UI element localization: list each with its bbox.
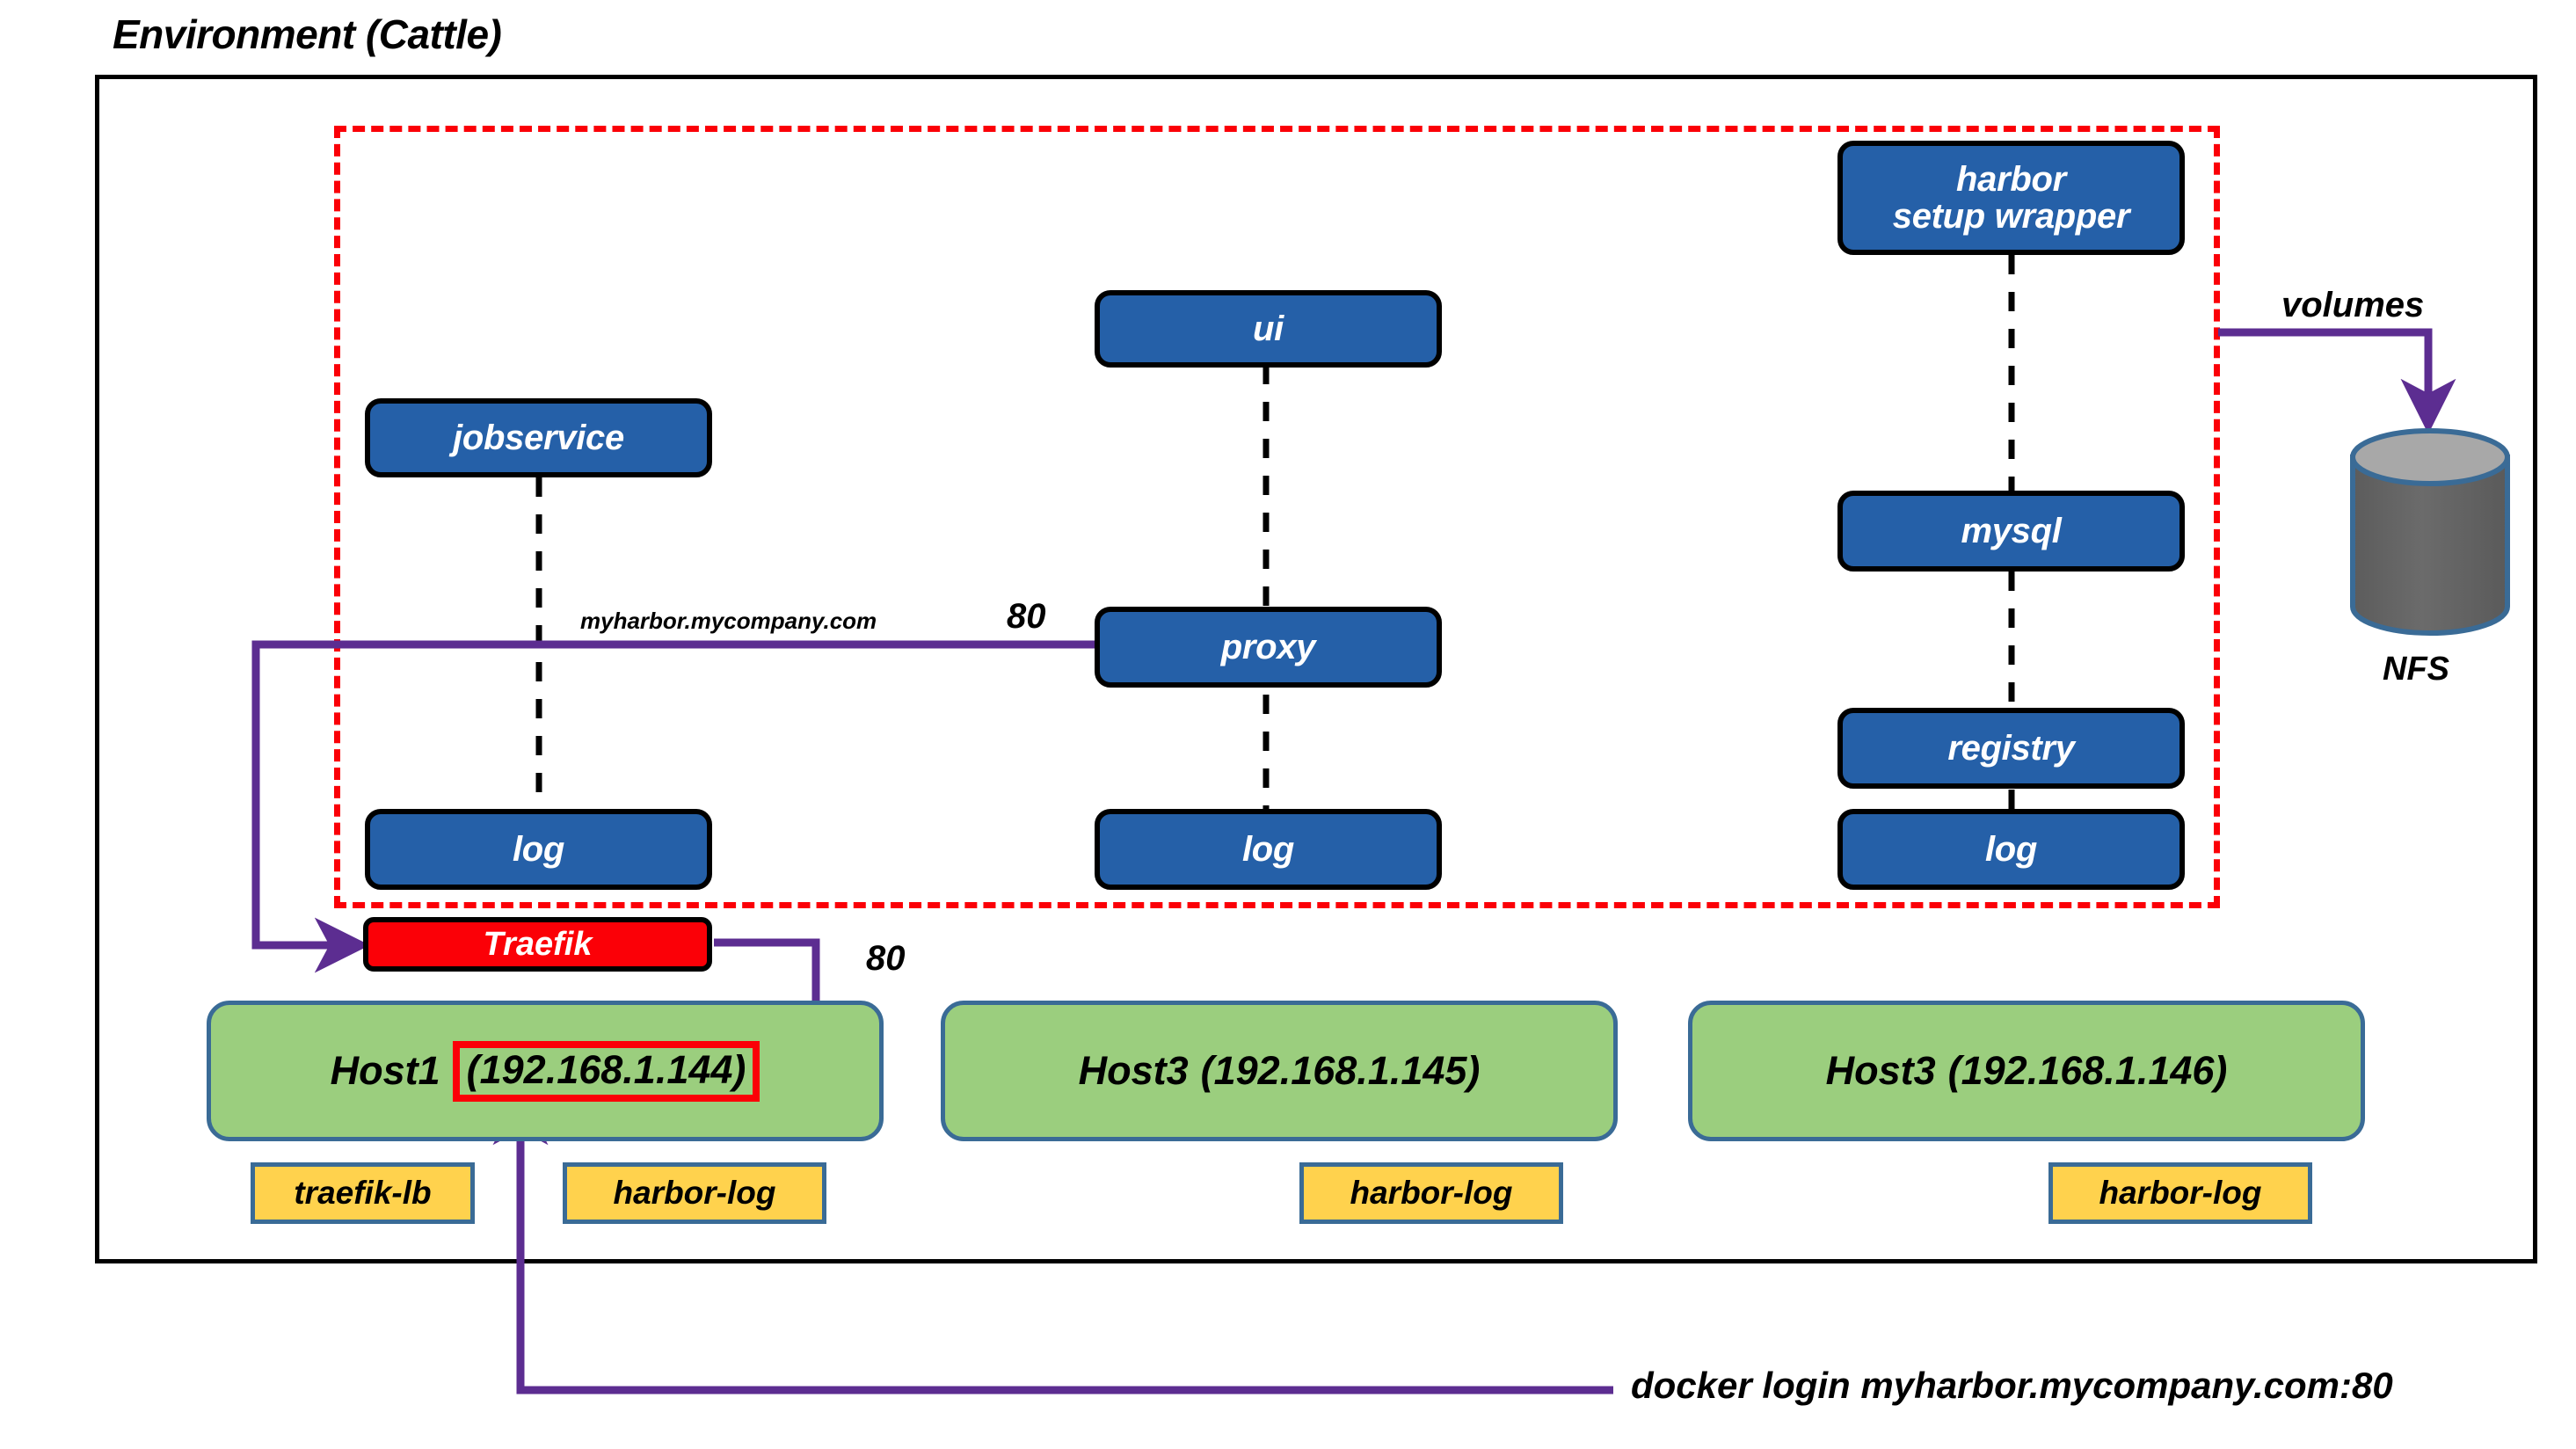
hostname-label: myharbor.mycompany.com: [580, 608, 877, 635]
service-box-jobservice[interactable]: jobservice: [365, 398, 712, 477]
host-ip-1: (192.168.1.144): [453, 1041, 760, 1102]
traefik-port-label: 80: [866, 939, 906, 979]
traefik-load-balancer[interactable]: Traefik: [363, 917, 712, 972]
service-box-registry-log[interactable]: log: [1837, 809, 2185, 890]
proxy-port-label: 80: [1007, 597, 1046, 637]
host-name-1: Host1: [331, 1048, 440, 1094]
host-name-2: Host3: [1079, 1048, 1189, 1094]
host-box-1[interactable]: Host1 (192.168.1.144): [207, 1001, 884, 1141]
docker-login-command: docker login myharbor.mycompany.com:80: [1631, 1365, 2393, 1407]
host-tag-traefik-lb[interactable]: traefik-lb: [251, 1162, 475, 1224]
volumes-label: volumes: [2281, 286, 2424, 325]
host-label-2: Host3 (192.168.1.145): [1079, 1048, 1481, 1094]
environment-title: Environment (Cattle): [113, 11, 501, 58]
service-box-jobservice-log[interactable]: log: [365, 809, 712, 890]
service-box-mysql[interactable]: mysql: [1837, 491, 2185, 572]
host-tag-harbor-log-1[interactable]: harbor-log: [563, 1162, 826, 1224]
service-box-registry[interactable]: registry: [1837, 708, 2185, 789]
service-box-harbor-setup-wrapper[interactable]: harbor setup wrapper: [1837, 141, 2185, 255]
host-tag-harbor-log-3[interactable]: harbor-log: [2048, 1162, 2312, 1224]
host-label-3: Host3 (192.168.1.146): [1826, 1048, 2228, 1094]
host-name-3: Host3: [1826, 1048, 1936, 1094]
host-box-3[interactable]: Host3 (192.168.1.146): [1688, 1001, 2365, 1141]
service-box-proxy-log[interactable]: log: [1095, 809, 1442, 890]
service-box-proxy[interactable]: proxy: [1095, 607, 1442, 688]
host-ip-3: (192.168.1.146): [1948, 1048, 2228, 1094]
diagram-canvas: Environment (Cattle): [0, 0, 2576, 1449]
host-tag-harbor-log-2[interactable]: harbor-log: [1299, 1162, 1563, 1224]
host-ip-2: (192.168.1.145): [1201, 1048, 1481, 1094]
nfs-label: NFS: [2383, 651, 2449, 688]
host-label-1: Host1 (192.168.1.144): [331, 1041, 760, 1102]
host-box-2[interactable]: Host3 (192.168.1.145): [941, 1001, 1618, 1141]
service-box-ui[interactable]: ui: [1095, 290, 1442, 368]
